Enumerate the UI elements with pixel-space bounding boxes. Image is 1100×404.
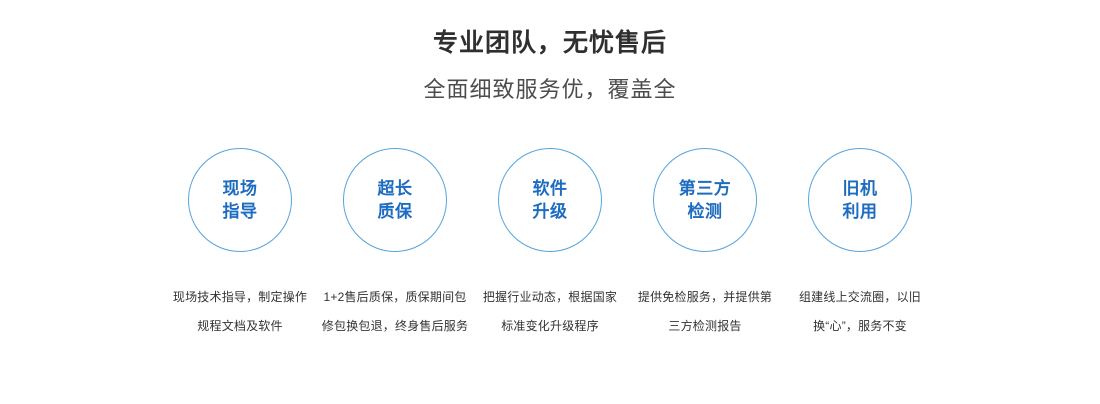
feature-description-4: 提供免检服务，并提供第 三方检测报告 — [629, 283, 781, 341]
feature-item-2: 超长 质保 1+2售后质保，质保期间包 修包换包退，终身售后服务 — [318, 148, 473, 341]
feature-description-5: 组建线上交流圈，以旧 换“心”，服务不变 — [784, 283, 936, 341]
feature-circle-label-line1: 现场 — [223, 177, 258, 200]
feature-description-line2: 修包换包退，终身售后服务 — [319, 312, 471, 341]
feature-circle-4[interactable]: 第三方 检测 — [653, 148, 757, 252]
feature-description-line2: 规程文档及软件 — [164, 312, 316, 341]
after-sales-service-section: 专业团队，无忧售后 全面细致服务优，覆盖全 现场 指导 现场技术指导，制定操作 … — [0, 0, 1100, 404]
feature-circle-5[interactable]: 旧机 利用 — [808, 148, 912, 252]
feature-description-3: 把握行业动态，根据国家 标准变化升级程序 — [474, 283, 626, 341]
feature-description-line1: 1+2售后质保，质保期间包 — [319, 283, 471, 312]
feature-description-line1: 提供免检服务，并提供第 — [629, 283, 781, 312]
feature-list: 现场 指导 现场技术指导，制定操作 规程文档及软件 超长 质保 1+2售后质保，… — [0, 148, 1100, 341]
feature-circle-label-line2: 升级 — [533, 200, 568, 223]
feature-circle-label-line2: 检测 — [688, 200, 723, 223]
page-title: 专业团队，无忧售后 — [0, 26, 1100, 60]
feature-description-2: 1+2售后质保，质保期间包 修包换包退，终身售后服务 — [319, 283, 471, 341]
feature-item-3: 软件 升级 把握行业动态，根据国家 标准变化升级程序 — [473, 148, 628, 341]
feature-description-1: 现场技术指导，制定操作 规程文档及软件 — [164, 283, 316, 341]
feature-circle-label-line2: 利用 — [843, 200, 878, 223]
feature-circle-label-line1: 旧机 — [843, 177, 878, 200]
heading-block: 专业团队，无忧售后 全面细致服务优，覆盖全 — [0, 0, 1100, 106]
feature-circle-label-line2: 指导 — [223, 200, 258, 223]
feature-description-line2: 三方检测报告 — [629, 312, 781, 341]
feature-circle-2[interactable]: 超长 质保 — [343, 148, 447, 252]
feature-item-4: 第三方 检测 提供免检服务，并提供第 三方检测报告 — [628, 148, 783, 341]
feature-item-1: 现场 指导 现场技术指导，制定操作 规程文档及软件 — [163, 148, 318, 341]
feature-description-line2: 标准变化升级程序 — [474, 312, 626, 341]
feature-circle-label-line1: 软件 — [533, 177, 568, 200]
feature-description-line1: 现场技术指导，制定操作 — [164, 283, 316, 312]
feature-description-line1: 组建线上交流圈，以旧 — [784, 283, 936, 312]
feature-circle-label-line1: 第三方 — [679, 177, 732, 200]
feature-description-line2: 换“心”，服务不变 — [784, 312, 936, 341]
feature-description-line1: 把握行业动态，根据国家 — [474, 283, 626, 312]
feature-circle-label-line2: 质保 — [378, 200, 413, 223]
feature-circle-1[interactable]: 现场 指导 — [188, 148, 292, 252]
feature-circle-3[interactable]: 软件 升级 — [498, 148, 602, 252]
feature-circle-label-line1: 超长 — [378, 177, 413, 200]
feature-item-5: 旧机 利用 组建线上交流圈，以旧 换“心”，服务不变 — [783, 148, 938, 341]
page-subtitle: 全面细致服务优，覆盖全 — [0, 74, 1100, 106]
